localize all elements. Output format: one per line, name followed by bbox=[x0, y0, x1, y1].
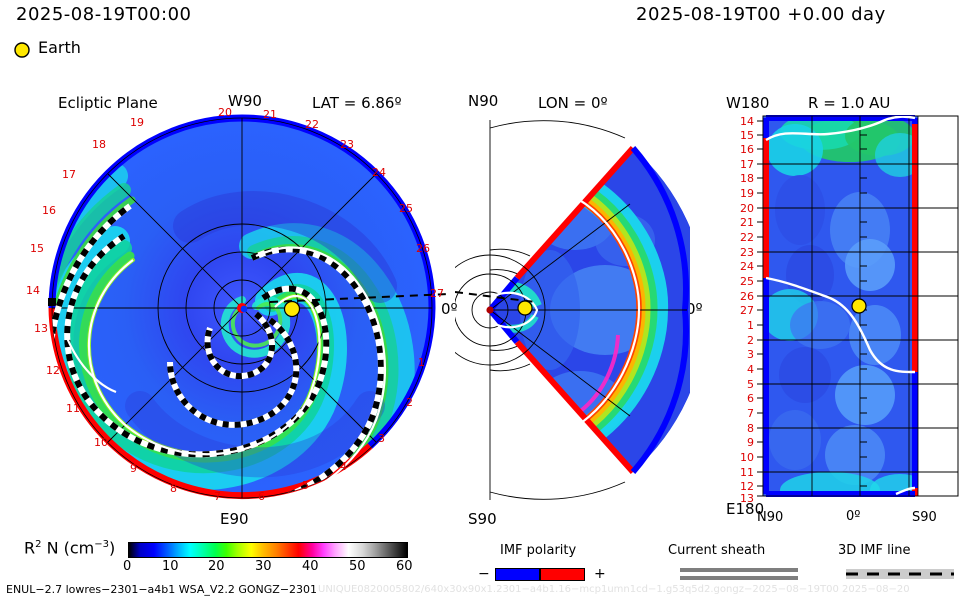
svg-text:6: 6 bbox=[258, 490, 265, 503]
meridional-earth-marker[interactable] bbox=[518, 301, 532, 315]
colorbar-label-rest: N (cm bbox=[42, 538, 95, 557]
colorbar-tick-60: 60 bbox=[396, 560, 413, 573]
map-earth-marker[interactable] bbox=[852, 299, 866, 313]
svg-text:8: 8 bbox=[170, 482, 177, 495]
svg-text:4: 4 bbox=[747, 363, 754, 376]
current-sheath-legend-title: Current sheath bbox=[668, 544, 765, 557]
imf-polarity-legend-title: IMF polarity bbox=[500, 544, 576, 557]
svg-text:26: 26 bbox=[740, 290, 754, 303]
radius-map-plot[interactable]: 141516 171819 202122 232425 2627 123 456… bbox=[700, 110, 960, 510]
svg-text:19: 19 bbox=[130, 116, 144, 129]
middle-panel-top-label: N90 bbox=[468, 94, 498, 109]
meridional-sun-marker bbox=[486, 306, 493, 313]
svg-text:17: 17 bbox=[62, 168, 76, 181]
svg-text:9: 9 bbox=[747, 436, 754, 449]
map-x-tick-n90: N90 bbox=[757, 511, 783, 524]
svg-text:6: 6 bbox=[747, 392, 754, 405]
svg-text:5: 5 bbox=[747, 378, 754, 391]
svg-text:21: 21 bbox=[740, 216, 754, 229]
polarity-plus-label: + bbox=[594, 567, 606, 581]
svg-text:11: 11 bbox=[66, 402, 80, 415]
svg-text:2: 2 bbox=[747, 334, 754, 347]
svg-text:11: 11 bbox=[740, 466, 754, 479]
svg-text:27: 27 bbox=[740, 304, 754, 317]
map-x-tick-s90: S90 bbox=[912, 511, 937, 524]
svg-text:10: 10 bbox=[94, 436, 108, 449]
svg-text:18: 18 bbox=[740, 172, 754, 185]
colorbar-tick-40: 40 bbox=[302, 560, 319, 573]
ecliptic-plane-plot[interactable]: 2021 2223 2425 2627 1 23 45 67 89 1011 1… bbox=[20, 106, 460, 511]
timestamp-left: 2025-08-19T00:00 bbox=[16, 6, 191, 24]
svg-text:4: 4 bbox=[340, 460, 347, 473]
middle-panel-bottom-label: S90 bbox=[468, 512, 497, 527]
svg-text:13: 13 bbox=[740, 492, 754, 505]
svg-text:7: 7 bbox=[214, 490, 221, 503]
colorbar-tick-0: 0 bbox=[123, 560, 131, 573]
svg-text:8: 8 bbox=[747, 422, 754, 435]
svg-text:14: 14 bbox=[26, 284, 40, 297]
left-panel-bottom-label: E90 bbox=[220, 512, 249, 527]
svg-text:25: 25 bbox=[399, 202, 413, 215]
map-y-ticks bbox=[757, 121, 763, 496]
current-sheath-legend bbox=[680, 567, 800, 581]
map-density-field bbox=[762, 114, 930, 508]
svg-text:15: 15 bbox=[30, 242, 44, 255]
colorbar-label-tail: ) bbox=[109, 538, 115, 557]
timestamp-right: 2025-08-19T00 +0.00 day bbox=[636, 6, 886, 24]
colorbar-tick-10: 10 bbox=[162, 560, 179, 573]
svg-text:22: 22 bbox=[740, 231, 754, 244]
right-panel-title: R = 1.0 AU bbox=[808, 96, 890, 111]
svg-text:23: 23 bbox=[340, 138, 354, 151]
svg-text:1: 1 bbox=[747, 319, 754, 332]
colorbar-label: R2 N (cm−3) bbox=[18, 538, 128, 562]
svg-text:5: 5 bbox=[302, 479, 309, 492]
colorbar-ticks: 0 10 20 30 40 50 60 bbox=[118, 560, 438, 580]
map-x-tick-zero: 0º bbox=[846, 510, 860, 523]
svg-text:2: 2 bbox=[406, 396, 413, 409]
svg-text:13: 13 bbox=[34, 322, 48, 335]
svg-text:9: 9 bbox=[130, 462, 137, 475]
svg-text:24: 24 bbox=[372, 166, 386, 179]
svg-text:25: 25 bbox=[740, 275, 754, 288]
map-y-tick-labels: 141516 171819 202122 232425 2627 123 456… bbox=[740, 115, 754, 505]
earth-legend: Earth bbox=[12, 40, 212, 60]
svg-text:3: 3 bbox=[747, 348, 754, 361]
svg-text:21: 21 bbox=[263, 108, 277, 121]
earth-legend-label: Earth bbox=[38, 40, 81, 56]
colorbar-tick-30: 30 bbox=[255, 560, 272, 573]
meridional-slice-plot[interactable] bbox=[455, 110, 690, 510]
imf-line-legend bbox=[846, 567, 956, 581]
svg-text:14: 14 bbox=[740, 115, 754, 128]
colorbar-tick-20: 20 bbox=[208, 560, 225, 573]
svg-text:15: 15 bbox=[740, 129, 754, 142]
model-footer: ENUL−2.7 lowres−2301−a4b1 WSA_V2.2 GONGZ… bbox=[6, 584, 317, 595]
svg-text:26: 26 bbox=[416, 242, 430, 255]
colorbar-label-unit-exp: −3 bbox=[94, 539, 109, 550]
svg-text:1: 1 bbox=[418, 356, 425, 369]
svg-text:19: 19 bbox=[740, 187, 754, 200]
svg-text:12: 12 bbox=[46, 364, 60, 377]
svg-text:7: 7 bbox=[747, 407, 754, 420]
imf-polarity-legend: − + bbox=[478, 566, 628, 584]
middle-panel-lon-label: LON = 0º bbox=[538, 96, 608, 111]
svg-text:20: 20 bbox=[740, 202, 754, 215]
imf-line-legend-title: 3D IMF line bbox=[838, 544, 911, 557]
svg-text:16: 16 bbox=[740, 143, 754, 156]
svg-text:16: 16 bbox=[42, 204, 56, 217]
polarity-positive-swatch bbox=[540, 568, 585, 581]
svg-text:18: 18 bbox=[92, 138, 106, 151]
svg-text:27: 27 bbox=[430, 287, 444, 300]
colorbar-tick-50: 50 bbox=[349, 560, 366, 573]
density-colorbar[interactable] bbox=[128, 542, 408, 558]
svg-text:20: 20 bbox=[218, 106, 232, 119]
colorbar-label-base: R bbox=[24, 538, 35, 557]
svg-text:17: 17 bbox=[740, 158, 754, 171]
earth-icon bbox=[15, 43, 29, 57]
svg-text:10: 10 bbox=[740, 451, 754, 464]
polarity-negative-swatch bbox=[495, 568, 540, 581]
svg-text:24: 24 bbox=[740, 260, 754, 273]
right-panel-corner-top: W180 bbox=[726, 96, 769, 111]
svg-text:3: 3 bbox=[378, 432, 385, 445]
earth-marker[interactable] bbox=[285, 302, 300, 317]
svg-text:22: 22 bbox=[305, 118, 319, 131]
watermark-footer: UNIQUE0820005802/640x30x90x1.2301−a4b1.1… bbox=[318, 585, 910, 595]
polarity-minus-label: − bbox=[478, 567, 490, 581]
svg-text:23: 23 bbox=[740, 246, 754, 259]
